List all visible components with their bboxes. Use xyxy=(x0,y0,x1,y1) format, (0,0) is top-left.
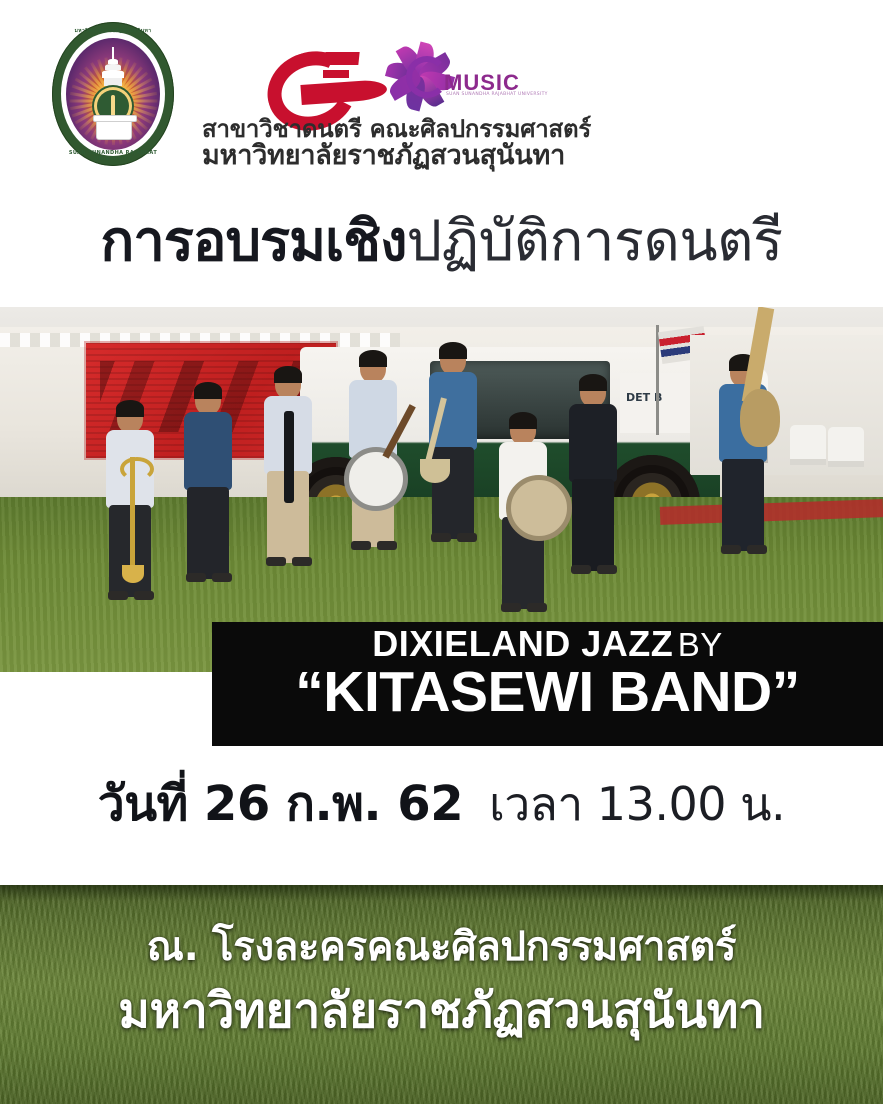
venue-line-1: ณ. โรงละครคณะศิลปกรรมศาสตร์ xyxy=(0,927,883,967)
headline-bold: การอบรมเชิง xyxy=(100,209,406,274)
photo-chair xyxy=(828,427,864,467)
music-logo-icon: MUSIC SUAN SUNANDHA RAJABHAT UNIVERSITY xyxy=(372,28,532,124)
banner-band-name: “KITASEWI BAND” xyxy=(212,664,883,721)
date-time-strip: วันที่ 26 ก.พ. 62เวลา 13.00 น. xyxy=(0,746,883,885)
event-time: เวลา 13.00 น. xyxy=(489,777,785,831)
band-member-suit xyxy=(560,377,626,595)
band-name-banner: DIXIELAND JAZZ BY “KITASEWI BAND” xyxy=(212,622,883,746)
seal-text-top: มหาวิทยาลัยราชภัฏสวนสุนันทา xyxy=(52,27,174,35)
fine-arts-logo-icon xyxy=(267,46,387,108)
band-photo: DET B xyxy=(0,307,883,672)
venue-footer: ณ. โรงละครคณะศิลปกรรมศาสตร์ มหาวิทยาลัยร… xyxy=(0,885,883,1104)
photo-chair xyxy=(790,425,826,465)
trombone-icon xyxy=(112,457,158,597)
headline-light: ปฏิบัติการดนตรี xyxy=(407,209,783,274)
seal-text-bottom: SUAN SUNANDHA RAJABHAT UNIVERSITY xyxy=(52,150,174,162)
music-logo-subtext: SUAN SUNANDHA RAJABHAT UNIVERSITY xyxy=(446,92,532,97)
department-line-1: สาขาวิชาดนตรี คณะศิลปกรรมศาสตร์ xyxy=(202,117,842,142)
venue-line-2: มหาวิทยาลัยราชภัฏสวนสุนันทา xyxy=(0,987,883,1035)
event-date: วันที่ 26 ก.พ. 62 xyxy=(98,776,463,832)
double-bass-icon xyxy=(736,307,784,457)
clarinet-icon xyxy=(284,411,294,503)
banner-line-1: DIXIELAND JAZZ BY xyxy=(212,626,883,662)
page-title: การอบรมเชิงปฏิบัติการดนตรี xyxy=(0,214,883,270)
banner-dixieland-jazz: DIXIELAND JAZZ xyxy=(372,623,673,664)
poster-header: มหาวิทยาลัยราชภัฏสวนสุนันทา SUAN SUNANDH… xyxy=(0,0,883,307)
department-text: สาขาวิชาดนตรี คณะศิลปกรรมศาสตร์ มหาวิทยา… xyxy=(202,117,842,170)
trumpet-icon xyxy=(408,391,478,491)
banner-by: BY xyxy=(678,626,723,663)
logo-row: มหาวิทยาลัยราชภัฏสวนสุนันทา SUAN SUNANDH… xyxy=(52,22,842,172)
event-poster: มหาวิทยาลัยราชภัฏสวนสุนันทา SUAN SUNANDH… xyxy=(0,0,883,1104)
university-seal-icon: มหาวิทยาลัยราชภัฏสวนสุนันทา SUAN SUNANDH… xyxy=(52,22,174,166)
department-line-2: มหาวิทยาลัยราชภัฏสวนสุนันทา xyxy=(202,142,842,170)
band-member-dark-shirt xyxy=(178,385,238,591)
